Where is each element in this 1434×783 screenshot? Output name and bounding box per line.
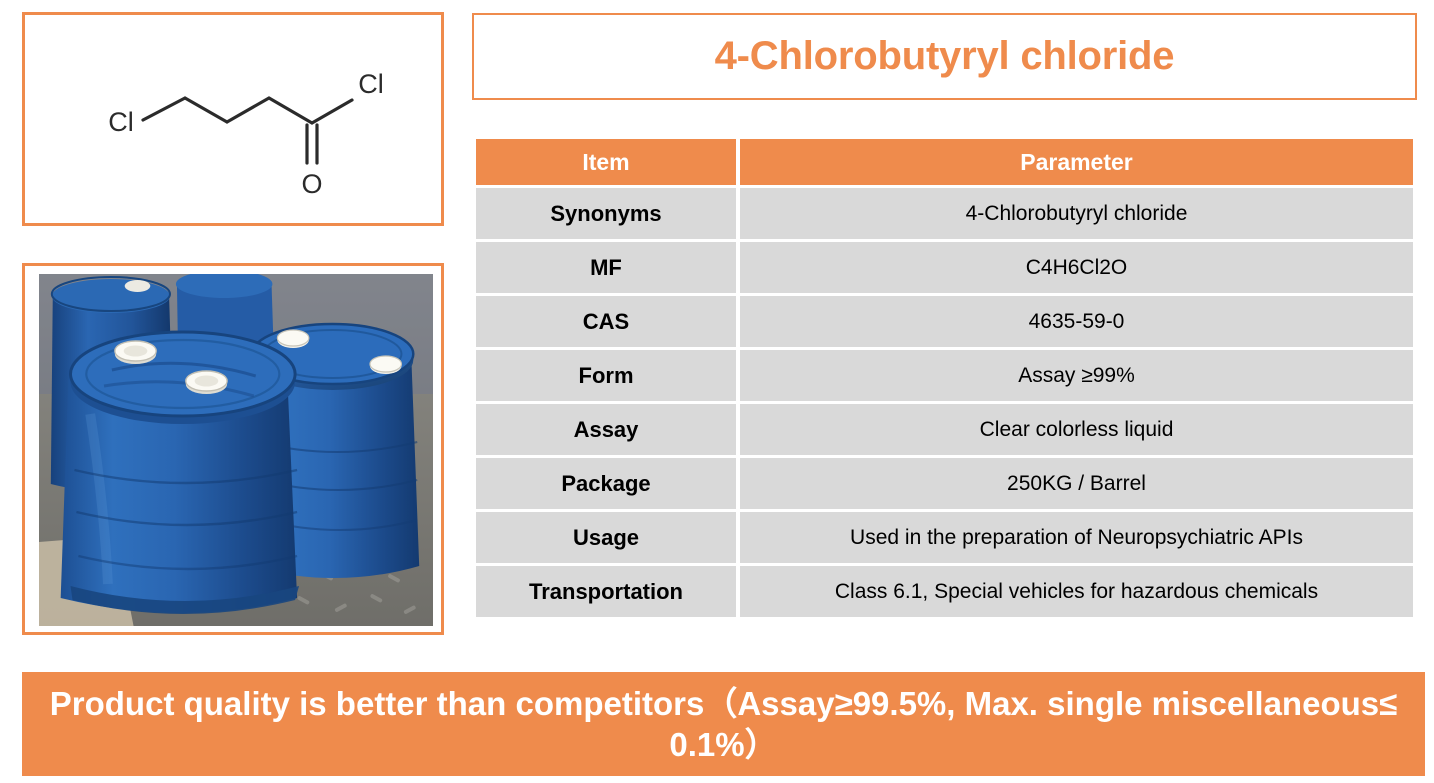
page-title: 4-Chlorobutyryl chloride (715, 34, 1175, 79)
specification-table: Item Parameter Synonyms 4-Chlorobutyryl … (472, 136, 1417, 620)
quality-statement-banner: Product quality is better than competito… (22, 672, 1425, 776)
row-parameter-value: 250KG / Barrel (740, 458, 1413, 509)
structure-label-oxygen: O (301, 169, 322, 199)
row-item-label: Assay (476, 404, 736, 455)
column-header-parameter: Parameter (740, 139, 1413, 185)
quality-statement-text: Product quality is better than competito… (36, 683, 1411, 766)
table-row: Transportation Class 6.1, Special vehicl… (476, 566, 1413, 617)
row-parameter-value: 4-Chlorobutyryl chloride (740, 188, 1413, 239)
product-title-panel: 4-Chlorobutyryl chloride (472, 13, 1417, 100)
table-row: Package 250KG / Barrel (476, 458, 1413, 509)
chemical-structure-panel: Cl Cl O (22, 12, 444, 226)
table-row: MF C4H6Cl2O (476, 242, 1413, 293)
row-item-label: Form (476, 350, 736, 401)
chemical-structure-diagram: Cl Cl O (25, 15, 441, 223)
row-parameter-value: Clear colorless liquid (740, 404, 1413, 455)
structure-label-cl-right: Cl (358, 69, 384, 99)
blue-barrels-photo (39, 274, 433, 626)
structure-label-cl-left: Cl (108, 107, 134, 137)
column-header-item: Item (476, 139, 736, 185)
row-parameter-value: 4635-59-0 (740, 296, 1413, 347)
row-parameter-value: Assay ≥99% (740, 350, 1413, 401)
table-row: Form Assay ≥99% (476, 350, 1413, 401)
product-photo-panel (22, 263, 444, 635)
row-item-label: Usage (476, 512, 736, 563)
row-parameter-value: Used in the preparation of Neuropsychiat… (740, 512, 1413, 563)
row-parameter-value: C4H6Cl2O (740, 242, 1413, 293)
row-item-label: CAS (476, 296, 736, 347)
table-row: CAS 4635-59-0 (476, 296, 1413, 347)
table-row: Assay Clear colorless liquid (476, 404, 1413, 455)
table-header-row: Item Parameter (476, 139, 1413, 185)
row-item-label: Transportation (476, 566, 736, 617)
table-row: Synonyms 4-Chlorobutyryl chloride (476, 188, 1413, 239)
row-item-label: Package (476, 458, 736, 509)
row-parameter-value: Class 6.1, Special vehicles for hazardou… (740, 566, 1413, 617)
row-item-label: MF (476, 242, 736, 293)
table-row: Usage Used in the preparation of Neurops… (476, 512, 1413, 563)
row-item-label: Synonyms (476, 188, 736, 239)
